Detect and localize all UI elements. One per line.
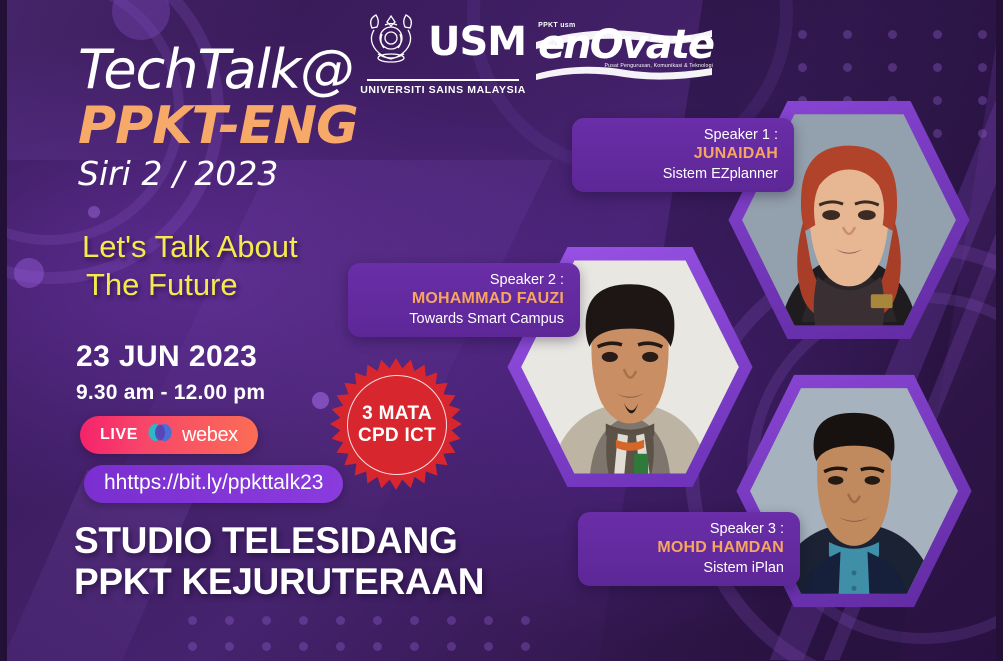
enovate-wordmark: enOvate <box>538 25 713 65</box>
speaker-1-name: JUNAIDAH <box>588 144 778 165</box>
speaker-3-role: Speaker 3 : <box>594 520 784 538</box>
title-block: TechTalk@ PPKT-ENG Siri 2 / 2023 <box>78 42 358 192</box>
enovate-logo: PPKT usm enOvate Pusat Pengurusan, Komun… <box>538 22 713 69</box>
usm-crest-icon <box>360 8 422 75</box>
speaker-3-label: Speaker 3 : MOHD HAMDAN Sistem iPlan <box>578 512 800 586</box>
venue-block: STUDIO TELESIDANG PPKT KEJURUTERAAN <box>74 520 484 603</box>
cpd-line-1: 3 MATA <box>362 403 432 425</box>
title-line-1: TechTalk@ <box>78 42 358 97</box>
logo-row: USM UNIVERSITI SAINS MALAYSIA PPKT usm e… <box>360 8 713 96</box>
decorative-blob <box>312 392 329 409</box>
date-time-block: 23 JUN 2023 9.30 am - 12.00 pm <box>76 340 265 405</box>
speaker-2-label: Speaker 2 : MOHAMMAD FAUZI Towards Smart… <box>348 263 580 337</box>
usm-logo: USM UNIVERSITI SAINS MALAYSIA <box>360 8 526 96</box>
speaker-1-topic: Sistem EZplanner <box>588 165 778 183</box>
venue-line-2: PPKT KEJURUTERAAN <box>74 561 484 602</box>
venue-line-1: STUDIO TELESIDANG <box>74 520 484 561</box>
tagline-line-1: Let's Talk About <box>82 228 298 266</box>
speaker-3-name: MOHD HAMDAN <box>594 538 784 559</box>
live-label: LIVE <box>100 426 138 444</box>
speaker-1-label: Speaker 1 : JUNAIDAH Sistem EZplanner <box>572 118 794 192</box>
cpd-badge-inner: 3 MATA CPD ICT <box>347 375 447 475</box>
speaker-2-name: MOHAMMAD FAUZI <box>364 289 564 310</box>
cpd-line-2: CPD ICT <box>358 425 436 447</box>
speaker-2-role: Speaker 2 : <box>364 271 564 289</box>
tagline: Let's Talk About The Future <box>82 228 298 304</box>
cpd-badge: 3 MATA CPD ICT <box>330 358 462 490</box>
live-webex-badge[interactable]: LIVE webex <box>80 416 258 454</box>
registration-url-pill[interactable]: hhttps://bit.ly/ppkttalk23 <box>84 465 343 503</box>
decorative-blob <box>88 206 100 218</box>
right-edge <box>996 0 1003 661</box>
event-date: 23 JUN 2023 <box>76 340 265 373</box>
decorative-blob <box>14 258 44 288</box>
poster-canvas: USM UNIVERSITI SAINS MALAYSIA PPKT usm e… <box>0 0 1003 661</box>
tagline-line-2: The Future <box>82 266 298 304</box>
event-time: 9.30 am - 12.00 pm <box>76 381 265 405</box>
webex-label: webex <box>182 424 238 447</box>
speaker-1-role: Speaker 1 : <box>588 126 778 144</box>
title-line-3: Siri 2 / 2023 <box>78 156 358 192</box>
usm-subtitle: UNIVERSITI SAINS MALAYSIA <box>360 84 526 96</box>
usm-divider <box>367 79 519 81</box>
usm-wordmark: USM <box>428 22 526 62</box>
title-line-2: PPKT-ENG <box>78 99 358 154</box>
speaker-2-topic: Towards Smart Campus <box>364 310 564 328</box>
webex-icon <box>147 423 173 447</box>
speaker-3-topic: Sistem iPlan <box>594 559 784 577</box>
left-edge <box>0 0 7 661</box>
